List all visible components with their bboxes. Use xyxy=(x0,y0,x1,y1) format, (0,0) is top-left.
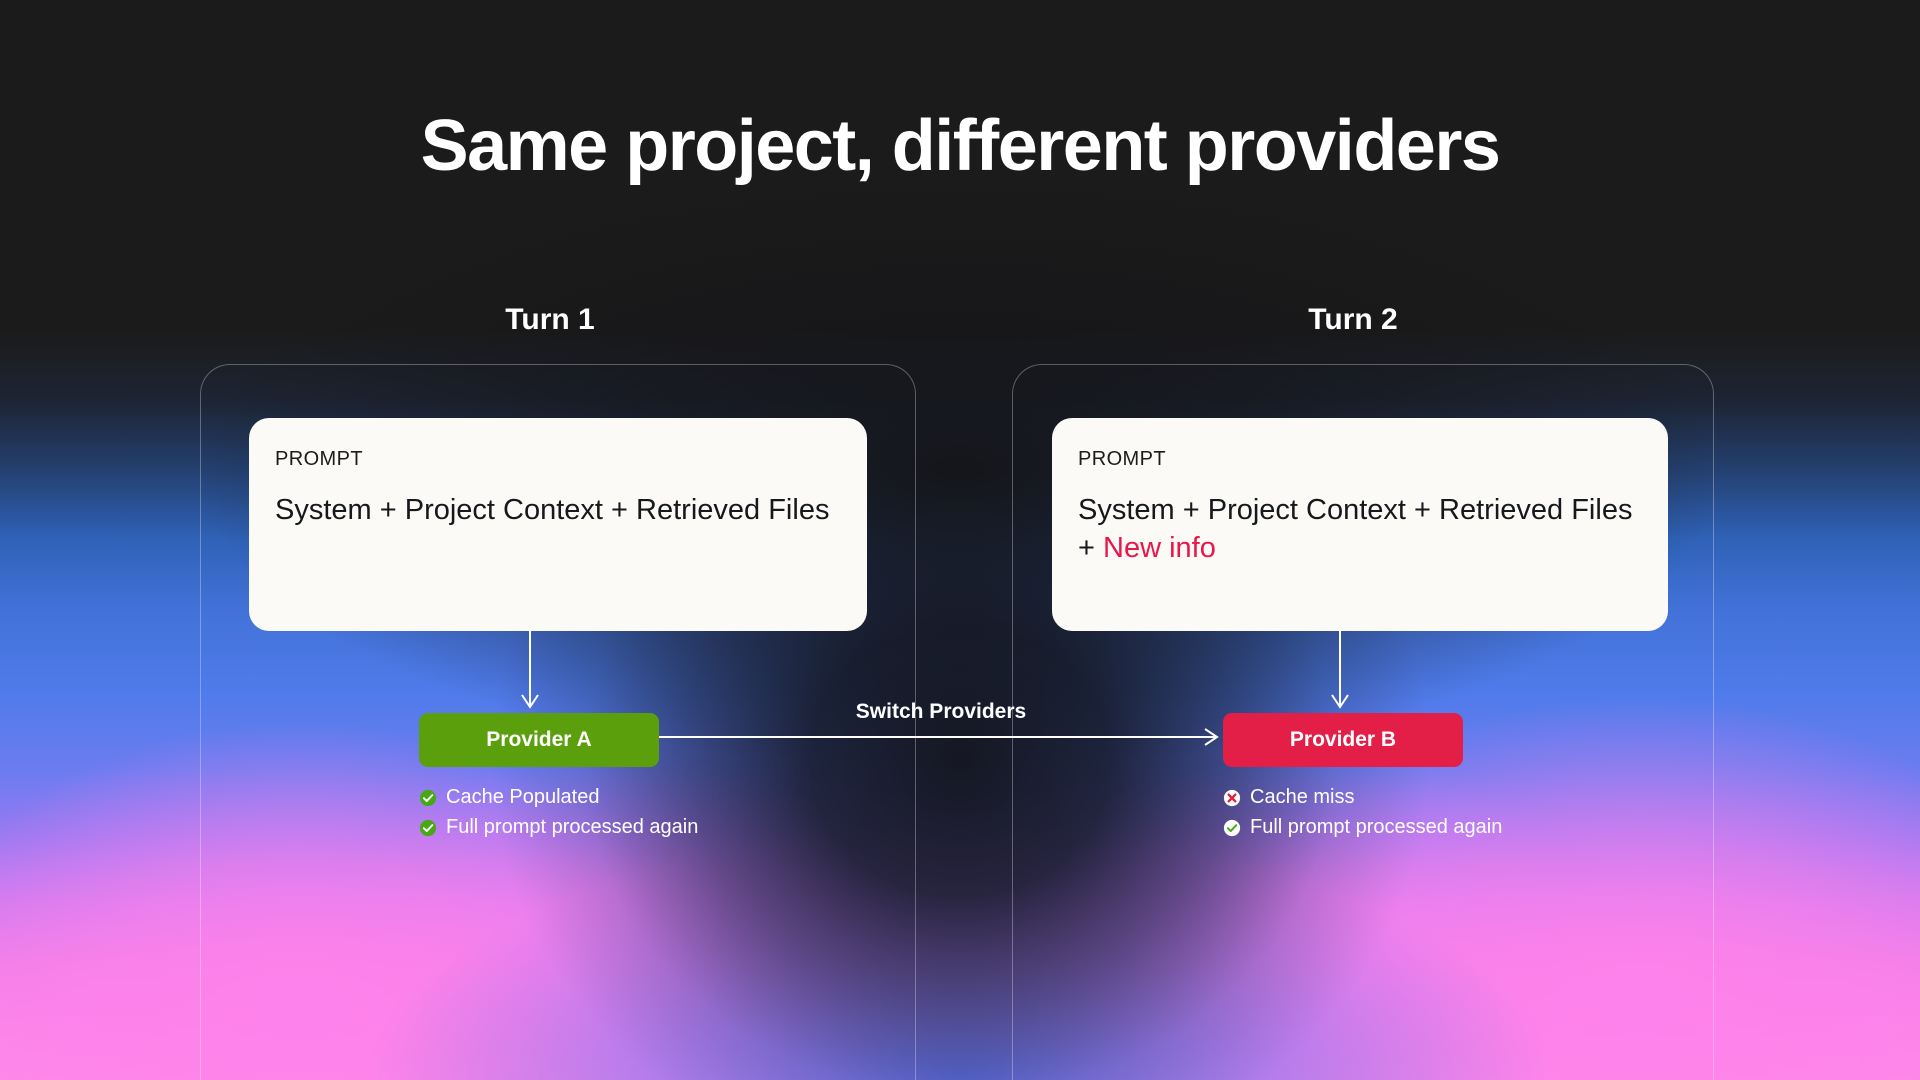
turn-1-status-list: Cache Populated Full prompt processed ag… xyxy=(419,786,698,846)
turn-1-label: Turn 1 xyxy=(400,303,700,337)
list-item-label: Full prompt processed again xyxy=(1250,816,1502,839)
list-item-label: Cache miss xyxy=(1250,786,1354,809)
check-circle-icon xyxy=(419,819,437,837)
arrow-right-icon xyxy=(659,727,1223,747)
list-item-label: Full prompt processed again xyxy=(446,816,698,839)
slide-canvas: Same project, different providers Turn 1… xyxy=(0,0,1920,1080)
prompt-highlight-new-info: New info xyxy=(1103,532,1216,564)
turn-1-prompt-card: PROMPT System + Project Context + Retrie… xyxy=(249,418,867,631)
list-item-label: Cache Populated xyxy=(446,786,599,809)
prompt-text: System + Project Context + Retrieved Fil… xyxy=(275,494,829,526)
provider-a-label: Provider A xyxy=(486,728,591,752)
turn-2-prompt-card: PROMPT System + Project Context + Retrie… xyxy=(1052,418,1668,631)
prompt-kicker: PROMPT xyxy=(275,448,841,471)
arrow-down-icon xyxy=(520,631,540,713)
prompt-body: System + Project Context + Retrieved Fil… xyxy=(275,491,841,529)
page-title: Same project, different providers xyxy=(0,110,1920,182)
turn-2-status-list: Cache miss Full prompt processed again xyxy=(1223,786,1502,846)
prompt-kicker: PROMPT xyxy=(1078,448,1642,471)
list-item: Cache Populated xyxy=(419,786,698,809)
check-circle-icon xyxy=(419,789,437,807)
x-circle-icon xyxy=(1223,789,1241,807)
turn-2-label: Turn 2 xyxy=(1203,303,1503,337)
arrow-down-icon xyxy=(1330,631,1350,713)
prompt-body: System + Project Context + Retrieved Fil… xyxy=(1078,491,1642,568)
list-item: Cache miss xyxy=(1223,786,1502,809)
list-item: Full prompt processed again xyxy=(1223,816,1502,839)
provider-b-button[interactable]: Provider B xyxy=(1223,713,1463,767)
switch-providers-label: Switch Providers xyxy=(659,700,1223,724)
list-item: Full prompt processed again xyxy=(419,816,698,839)
provider-a-button[interactable]: Provider A xyxy=(419,713,659,767)
check-circle-icon xyxy=(1223,819,1241,837)
provider-b-label: Provider B xyxy=(1290,728,1396,752)
